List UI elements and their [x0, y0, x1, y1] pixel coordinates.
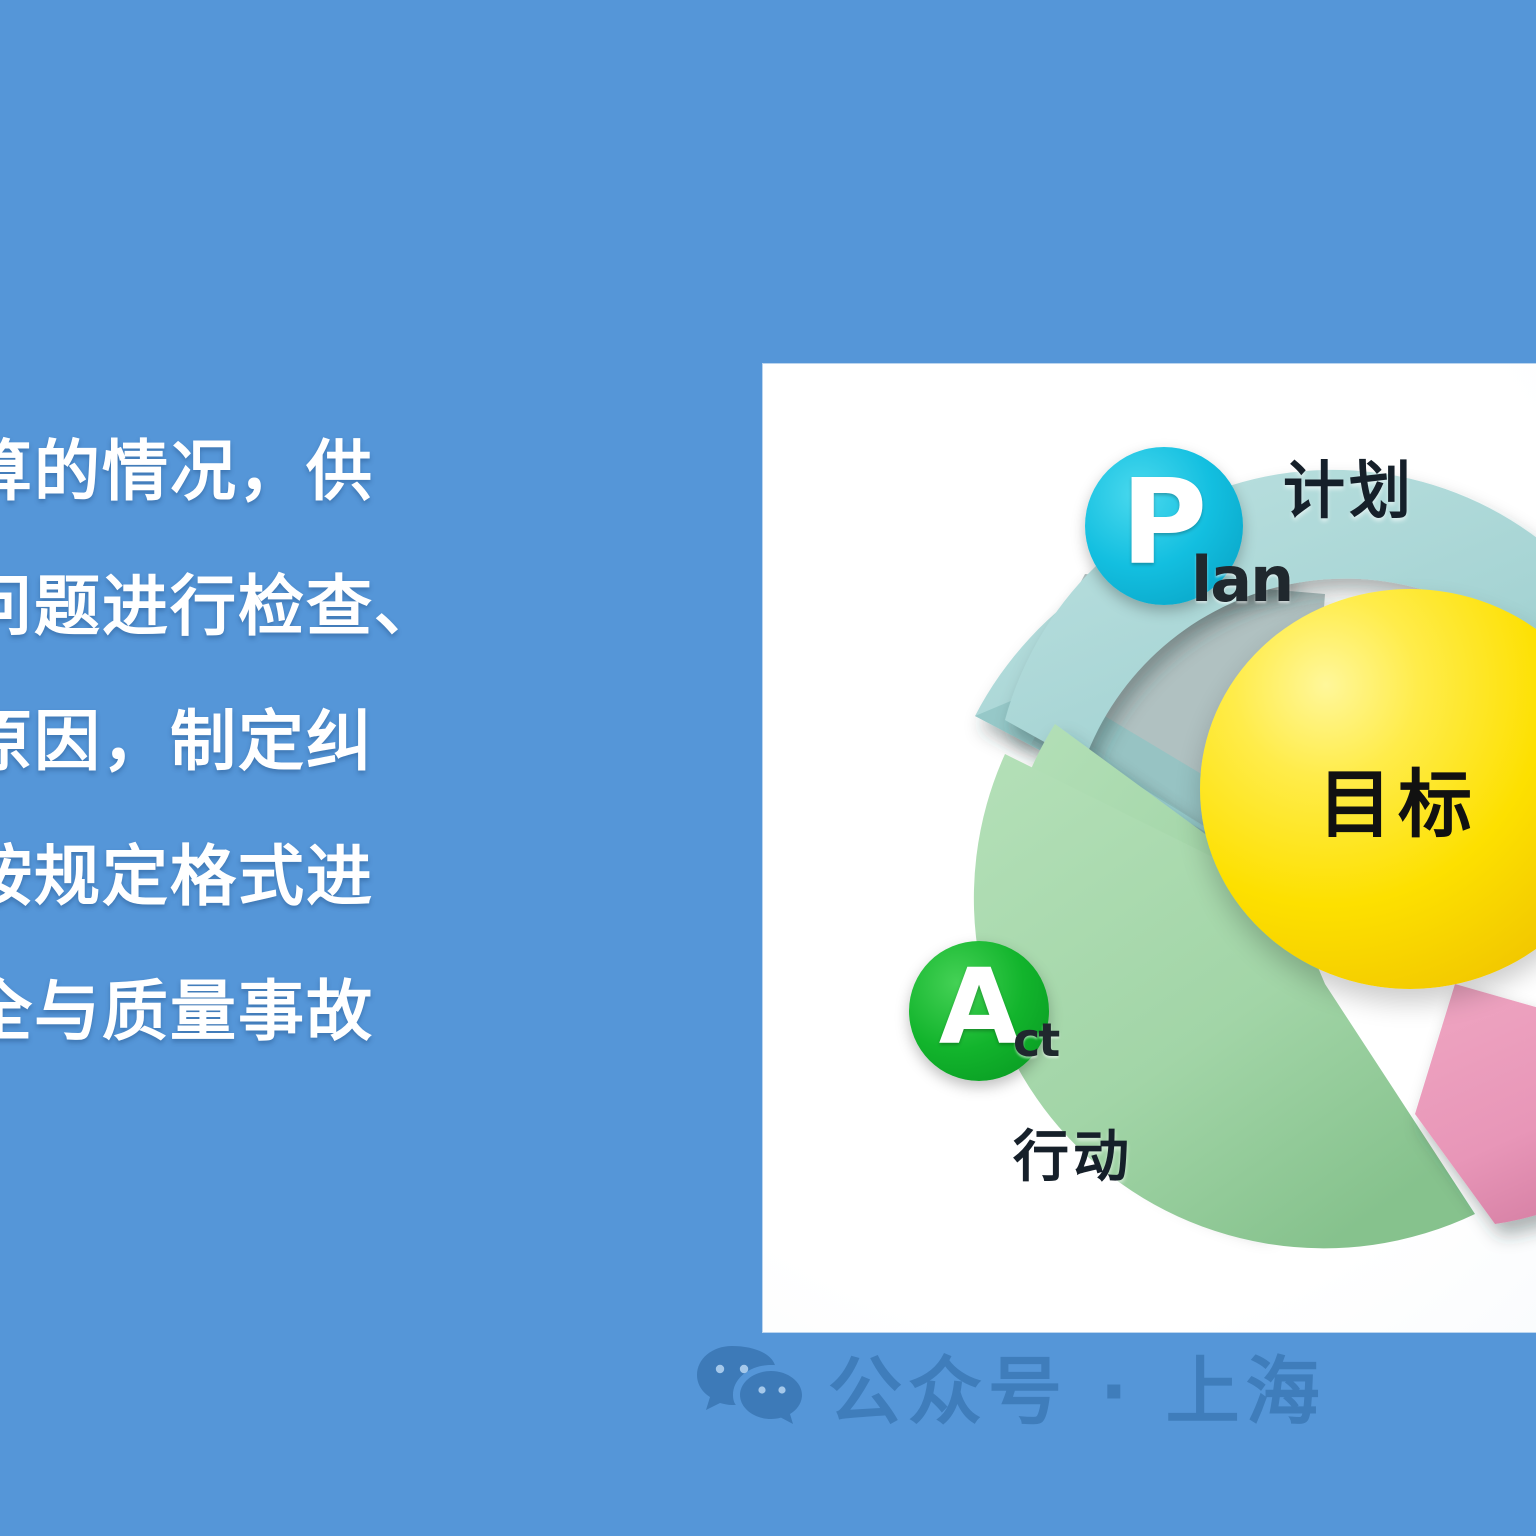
body-text-line-4: 按规定格式进: [0, 809, 506, 944]
wechat-icon: [694, 1342, 802, 1430]
label-act: 行动: [1013, 1112, 1133, 1193]
badge-plan-tail: lan: [1191, 543, 1292, 616]
slide-body-text: 算的情况，供 问题进行检查、 原因，制定纠 按规定格式进 全与质量事故: [0, 404, 506, 1079]
badge-act-letter: A: [939, 955, 1020, 1059]
body-text-line-5: 全与质量事故: [0, 944, 506, 1079]
label-plan: 计划: [1283, 440, 1415, 530]
watermark-text: 公众号 · 上海: [828, 1332, 1326, 1439]
goal-label: 目标: [1318, 745, 1478, 852]
body-text-line-3: 原因，制定纠: [0, 674, 506, 809]
badge-act-tail: ct: [1013, 1013, 1058, 1067]
wechat-watermark: 公众号 · 上海: [694, 1332, 1326, 1439]
body-text-line-1: 算的情况，供: [0, 404, 506, 539]
slide-canvas: 算的情况，供 问题进行检查、 原因，制定纠 按规定格式进 全与质量事故: [0, 0, 1536, 1536]
body-text-line-2: 问题进行检查、: [0, 539, 506, 674]
